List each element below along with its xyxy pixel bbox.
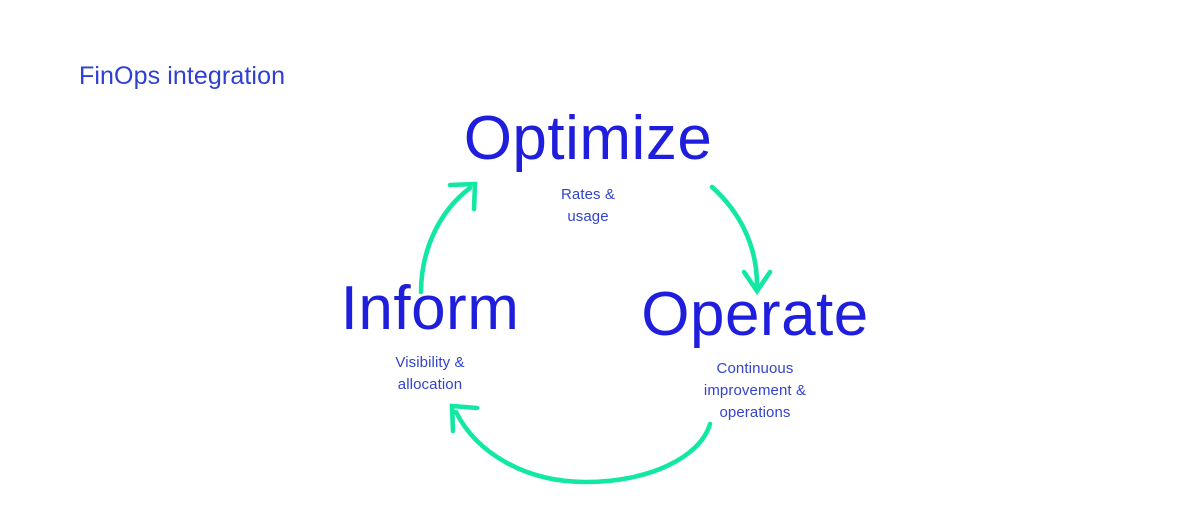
- cycle-node-optimize[interactable]: Optimize Rates & usage: [388, 108, 788, 228]
- cycle-node-operate-heading: Operate: [580, 284, 930, 346]
- cycle-node-inform-heading: Inform: [255, 278, 605, 340]
- sublabel-line: Rates &: [388, 184, 788, 206]
- cycle-node-optimize-sublabel: Rates & usage: [388, 184, 788, 228]
- cycle-node-operate[interactable]: Operate Continuous improvement & operati…: [580, 284, 930, 424]
- sublabel-line: operations: [580, 402, 930, 424]
- cycle-node-operate-sublabel: Continuous improvement & operations: [580, 358, 930, 424]
- page-title: FinOps integration: [79, 60, 285, 92]
- sublabel-line: allocation: [255, 374, 605, 396]
- cycle-node-inform-sublabel: Visibility & allocation: [255, 352, 605, 396]
- sublabel-line: usage: [388, 206, 788, 228]
- sublabel-line: improvement &: [580, 380, 930, 402]
- arrowhead-up-left-icon: [452, 406, 477, 431]
- cycle-node-optimize-heading: Optimize: [388, 108, 788, 170]
- cycle-node-inform[interactable]: Inform Visibility & allocation: [255, 278, 605, 396]
- sublabel-line: Continuous: [580, 358, 930, 380]
- finops-diagram-canvas: FinOps integration Optimize Rates & usag…: [0, 0, 1200, 528]
- sublabel-line: Visibility &: [255, 352, 605, 374]
